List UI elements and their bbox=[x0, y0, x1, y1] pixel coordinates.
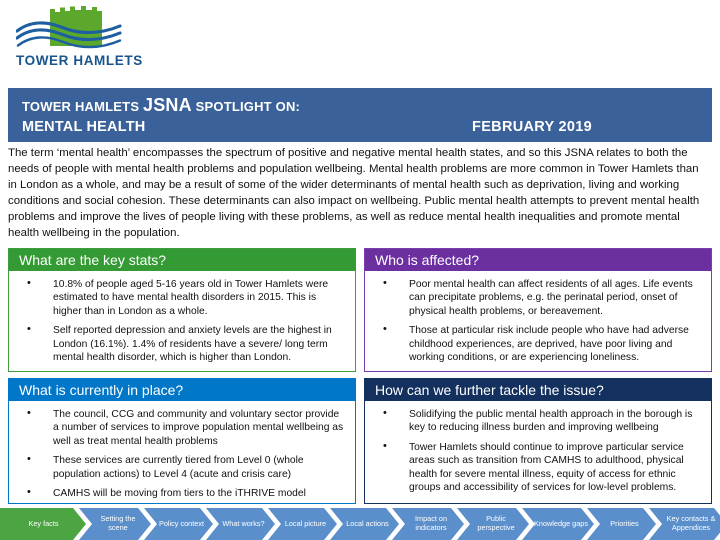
nav-chevron-local-actions[interactable]: Local actions bbox=[330, 508, 399, 540]
nav-chevron-priorities[interactable]: Priorities bbox=[587, 508, 656, 540]
card-currently-in-place-body: The council, CCG and community and volun… bbox=[9, 401, 355, 500]
nav-chevron-setting-the-scene[interactable]: Setting the scene bbox=[79, 508, 151, 540]
nav-chevron-label: Local picture bbox=[285, 520, 326, 529]
nav-chevron-label: Public perspective bbox=[468, 515, 524, 533]
nav-chevron-label: Knowledge gaps bbox=[534, 520, 588, 529]
list-item: 10.8% of people aged 5-16 years old in T… bbox=[13, 278, 347, 318]
card-currently-in-place-title: What is currently in place? bbox=[9, 379, 355, 401]
banner-line-1: TOWER HAMLETS JSNA SPOTLIGHT ON: bbox=[22, 94, 698, 118]
nav-chevron-public-perspective[interactable]: Public perspective bbox=[457, 508, 529, 540]
logo-mark bbox=[16, 4, 122, 52]
list-item: These services are currently tiered from… bbox=[13, 454, 347, 481]
card-currently-in-place: What is currently in place? The council,… bbox=[8, 378, 356, 504]
list-item: Solidifying the public mental health app… bbox=[369, 408, 703, 435]
card-who-is-affected-bullets: Poor mental health can affect residents … bbox=[369, 278, 703, 364]
nav-chevron-label: Local actions bbox=[346, 520, 389, 529]
nav-chevron-impact-on-indicators[interactable]: Impact on indicators bbox=[392, 508, 464, 540]
nav-chevron-label: Key facts bbox=[28, 520, 58, 529]
section-navigation: Key factsSetting the scenePolicy context… bbox=[0, 508, 720, 540]
list-item: The council, CCG and community and volun… bbox=[13, 408, 347, 448]
banner-title-line1: TOWER HAMLETS JSNA SPOTLIGHT ON: bbox=[22, 94, 300, 118]
logo-wordmark: TOWER HAMLETS bbox=[16, 53, 128, 68]
card-further-tackle-bullets: Solidifying the public mental health app… bbox=[369, 408, 703, 494]
banner-date: FEBRUARY 2019 bbox=[472, 118, 698, 137]
banner-title-jsna: JSNA bbox=[143, 95, 192, 115]
nav-chevron-label: What works? bbox=[222, 520, 264, 529]
card-key-stats: What are the key stats? 10.8% of people … bbox=[8, 248, 356, 372]
card-further-tackle-body: Solidifying the public mental health app… bbox=[365, 401, 711, 494]
title-banner: TOWER HAMLETS JSNA SPOTLIGHT ON: MENTAL … bbox=[8, 88, 712, 142]
nav-chevron-label: Priorities bbox=[610, 520, 638, 529]
card-key-stats-bullets: 10.8% of people aged 5-16 years old in T… bbox=[13, 278, 347, 364]
nav-chevron-label: Impact on indicators bbox=[403, 515, 459, 533]
banner-title-prefix: TOWER HAMLETS bbox=[22, 99, 143, 114]
banner-subject: MENTAL HEALTH bbox=[22, 118, 145, 137]
list-item: Poor mental health can affect residents … bbox=[369, 278, 703, 318]
card-who-is-affected-body: Poor mental health can affect residents … bbox=[365, 271, 711, 364]
banner-title-suffix: SPOTLIGHT ON: bbox=[192, 99, 300, 114]
card-key-stats-title: What are the key stats? bbox=[9, 249, 355, 271]
list-item: Tower Hamlets should continue to improve… bbox=[369, 441, 703, 495]
nav-chevron-key-contacts-appendices[interactable]: Key contacts & Appendices bbox=[649, 508, 720, 540]
nav-chevron-label: Key contacts & Appendices bbox=[660, 515, 720, 533]
intro-paragraph: The term ‘mental health’ encompasses the… bbox=[8, 146, 708, 241]
card-further-tackle: How can we further tackle the issue? Sol… bbox=[364, 378, 712, 504]
nav-chevron-label: Policy context bbox=[159, 520, 204, 529]
banner-line-2: MENTAL HEALTH FEBRUARY 2019 bbox=[22, 118, 698, 137]
nav-chevron-policy-context[interactable]: Policy context bbox=[144, 508, 213, 540]
nav-chevron-local-picture[interactable]: Local picture bbox=[268, 508, 337, 540]
list-item: Self reported depression and anxiety lev… bbox=[13, 324, 347, 364]
waves-icon bbox=[16, 20, 122, 52]
summary-cards: What are the key stats? 10.8% of people … bbox=[8, 248, 712, 504]
card-who-is-affected: Who is affected? Poor mental health can … bbox=[364, 248, 712, 372]
tower-hamlets-logo: TOWER HAMLETS bbox=[8, 4, 128, 74]
list-item: CAMHS will be moving from tiers to the i… bbox=[13, 487, 347, 500]
nav-chevron-knowledge-gaps[interactable]: Knowledge gaps bbox=[522, 508, 594, 540]
card-currently-in-place-bullets: The council, CCG and community and volun… bbox=[13, 408, 347, 500]
nav-chevron-label: Setting the scene bbox=[90, 515, 146, 533]
list-item: Those at particular risk include people … bbox=[369, 324, 703, 364]
nav-chevron-key-facts[interactable]: Key facts bbox=[0, 508, 86, 540]
nav-chevron-what-works[interactable]: What works? bbox=[206, 508, 275, 540]
card-further-tackle-title: How can we further tackle the issue? bbox=[365, 379, 711, 401]
card-who-is-affected-title: Who is affected? bbox=[365, 249, 711, 271]
card-key-stats-body: 10.8% of people aged 5-16 years old in T… bbox=[9, 271, 355, 364]
